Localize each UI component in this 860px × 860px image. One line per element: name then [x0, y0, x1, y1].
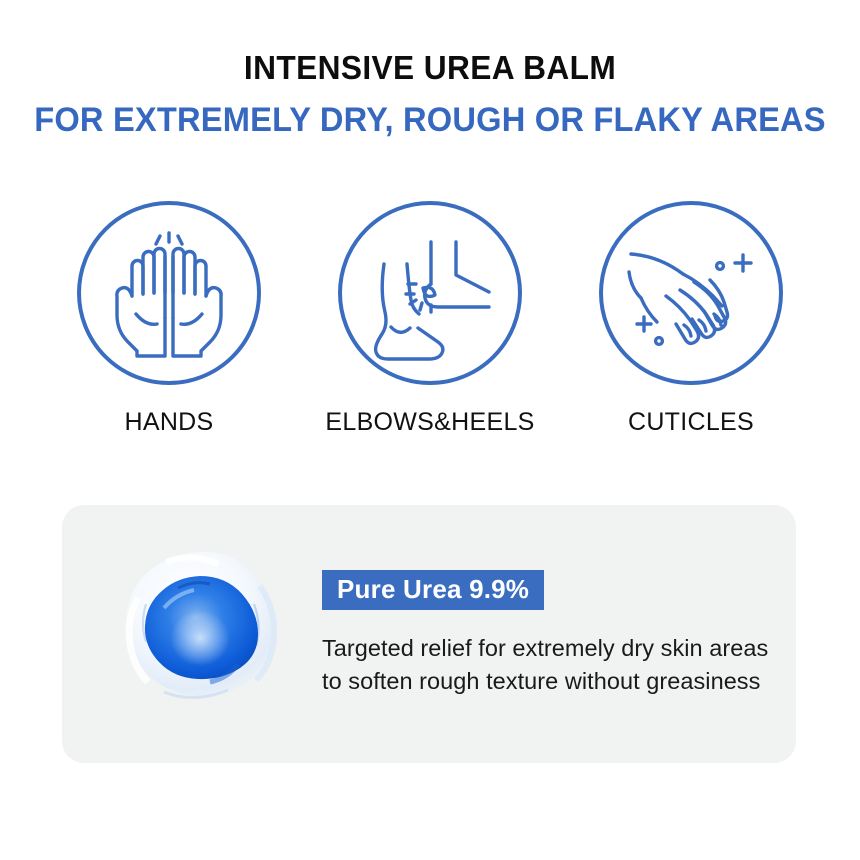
benefit-item-elbows-heels: ELBOWS&HEELS [337, 200, 523, 437]
benefit-label-elbows-heels: ELBOWS&HEELS [325, 408, 534, 437]
ingredient-card: Pure Urea 9.9% Targeted relief for extre… [62, 505, 796, 763]
ingredient-card-text: Pure Urea 9.9% Targeted relief for extre… [316, 570, 796, 698]
ingredient-description-line-2: to soften rough texture without greasine… [322, 665, 776, 698]
ingredient-description-line-1: Targeted relief for extremely dry skin a… [322, 632, 776, 665]
benefit-item-hands: HANDS [76, 200, 262, 437]
benefit-label-hands: HANDS [124, 408, 213, 437]
foot-and-elbow-icon [337, 200, 523, 386]
open-hands-icon [76, 200, 262, 386]
ingredient-card-inner: Pure Urea 9.9% Targeted relief for extre… [62, 505, 796, 763]
blue-water-droplet-sphere-icon [112, 546, 288, 722]
manicured-hand-icon [598, 200, 784, 386]
page-subtitle: FOR EXTREMELY DRY, ROUGH OR FLAKY AREAS [17, 99, 843, 141]
page-title: INTENSIVE UREA BALM [17, 48, 843, 88]
urea-percentage-badge: Pure Urea 9.9% [322, 570, 544, 610]
droplet-image-wrap [84, 534, 316, 734]
ingredient-description: Targeted relief for extremely dry skin a… [322, 632, 776, 698]
benefit-label-cuticles: CUTICLES [628, 408, 754, 437]
benefits-row: HANDS ELBOW [0, 200, 860, 437]
benefit-item-cuticles: CUTICLES [598, 200, 784, 437]
headline-block: INTENSIVE UREA BALM FOR EXTREMELY DRY, R… [0, 48, 860, 141]
